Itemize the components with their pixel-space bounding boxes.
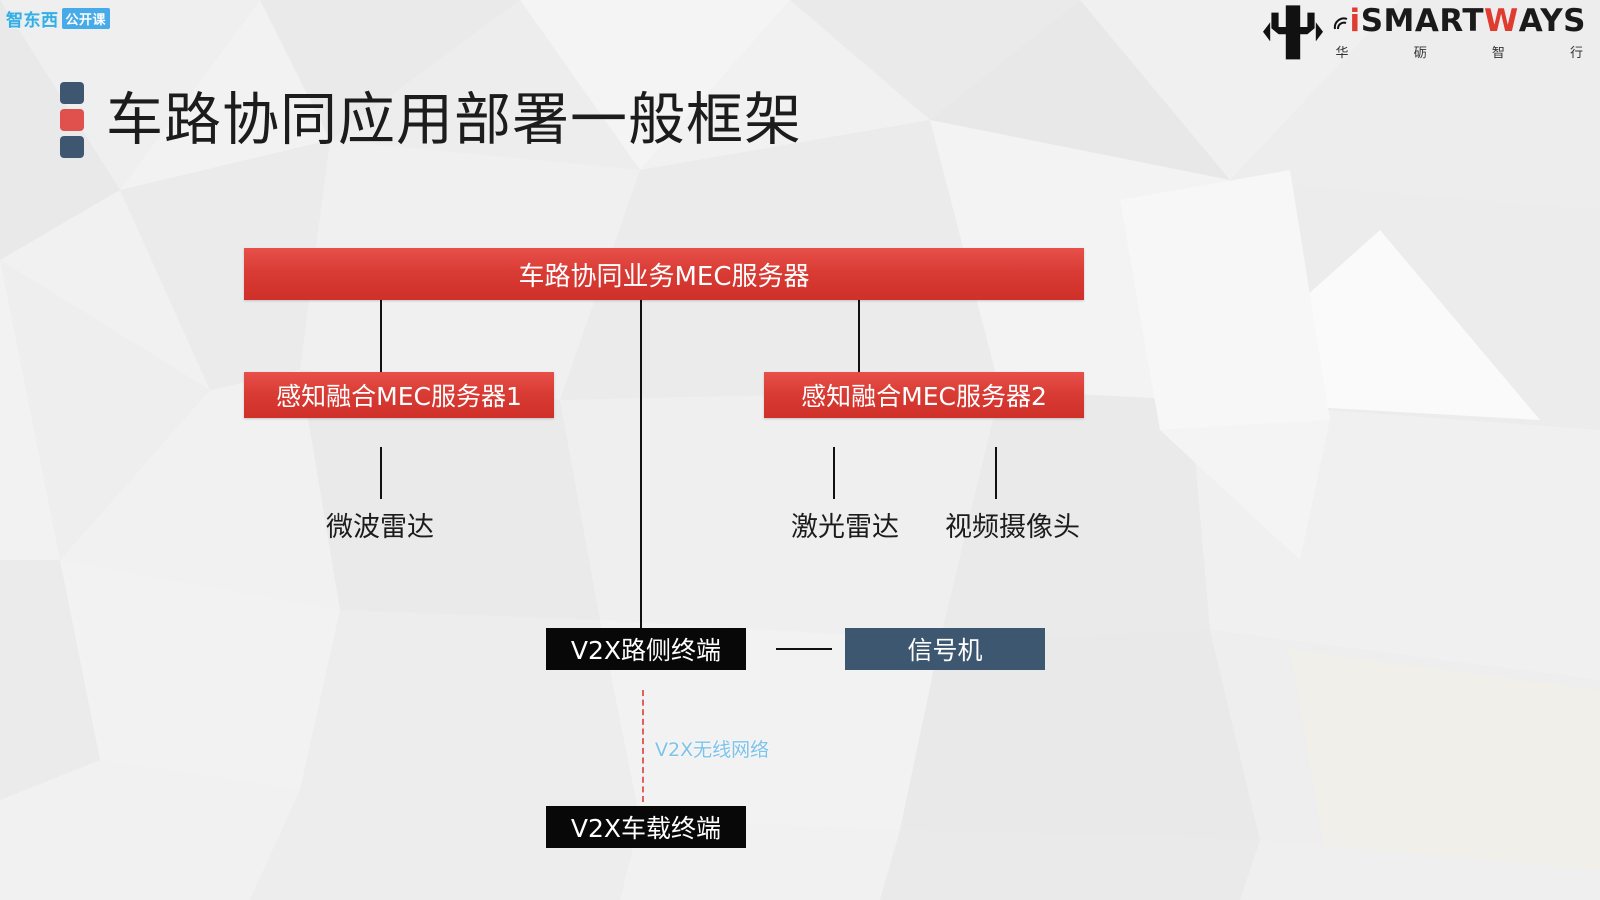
page-title: 车路协同应用部署一般框架 <box>106 92 802 149</box>
company-logo: iSMARTWAYS 华 砺 智 行 <box>1263 4 1586 62</box>
node-v2x-obu[interactable]: V2X车载终端 <box>546 806 746 848</box>
logo-word-w: W <box>1484 6 1519 37</box>
node-v2x-rsu[interactable]: V2X路侧终端 <box>546 628 746 670</box>
connector-fusion2-to-camera <box>995 447 997 499</box>
node-mmwave-radar[interactable]: 微波雷达 <box>300 503 460 545</box>
logo-cn-3: 智 <box>1492 42 1505 61</box>
watermark-tag: 公开课 <box>62 8 111 29</box>
bullet-square-bottom <box>60 136 84 158</box>
logo-cn-1: 华 <box>1336 42 1349 61</box>
logo-word-i: i <box>1350 6 1361 37</box>
node-video-camera[interactable]: 视频摄像头 <box>930 503 1095 545</box>
logo-word-smart: SMART <box>1361 6 1484 37</box>
logo-chinese-name: 华 砺 智 行 <box>1333 42 1586 61</box>
watermark: 智东西 公开课 <box>6 6 110 31</box>
logo-cn-4: 行 <box>1570 42 1583 61</box>
connector-mec-to-fusion1 <box>380 300 382 372</box>
v2x-wireless-network-label: V2X无线网络 <box>655 735 769 762</box>
node-signal-light[interactable]: 信号机 <box>845 628 1045 670</box>
connector-v2x-wireless-dashed <box>642 690 644 802</box>
node-mec-service[interactable]: 车路协同业务MEC服务器 <box>244 248 1084 300</box>
title-bullet-decoration <box>60 82 84 158</box>
watermark-brand: 智东西 <box>6 6 59 31</box>
logo-cn-2: 砺 <box>1414 42 1427 61</box>
node-lidar[interactable]: 激光雷达 <box>780 503 910 545</box>
bullet-square-middle <box>60 109 84 131</box>
connector-mec-to-fusion2 <box>858 300 860 372</box>
connector-mec-to-rsu <box>640 300 642 628</box>
node-fusion-mec-1[interactable]: 感知融合MEC服务器1 <box>244 372 554 418</box>
wifi-signal-icon <box>1333 17 1349 31</box>
connector-fusion1-to-mmwave <box>380 447 382 499</box>
logo-word-ays: AYS <box>1519 6 1586 37</box>
node-fusion-mec-2[interactable]: 感知融合MEC服务器2 <box>764 372 1084 418</box>
bullet-square-top <box>60 82 84 104</box>
ismartways-mark-icon <box>1263 4 1323 62</box>
slide-canvas: 智东西 公开课 iSMARTWAYS 华 砺 智 行 <box>0 0 1600 900</box>
connector-fusion2-to-lidar <box>833 447 835 499</box>
logo-wordmark: iSMARTWAYS <box>1333 6 1586 37</box>
slide-title-block: 车路协同应用部署一般框架 <box>60 82 802 158</box>
connector-rsu-to-signal <box>776 648 832 650</box>
